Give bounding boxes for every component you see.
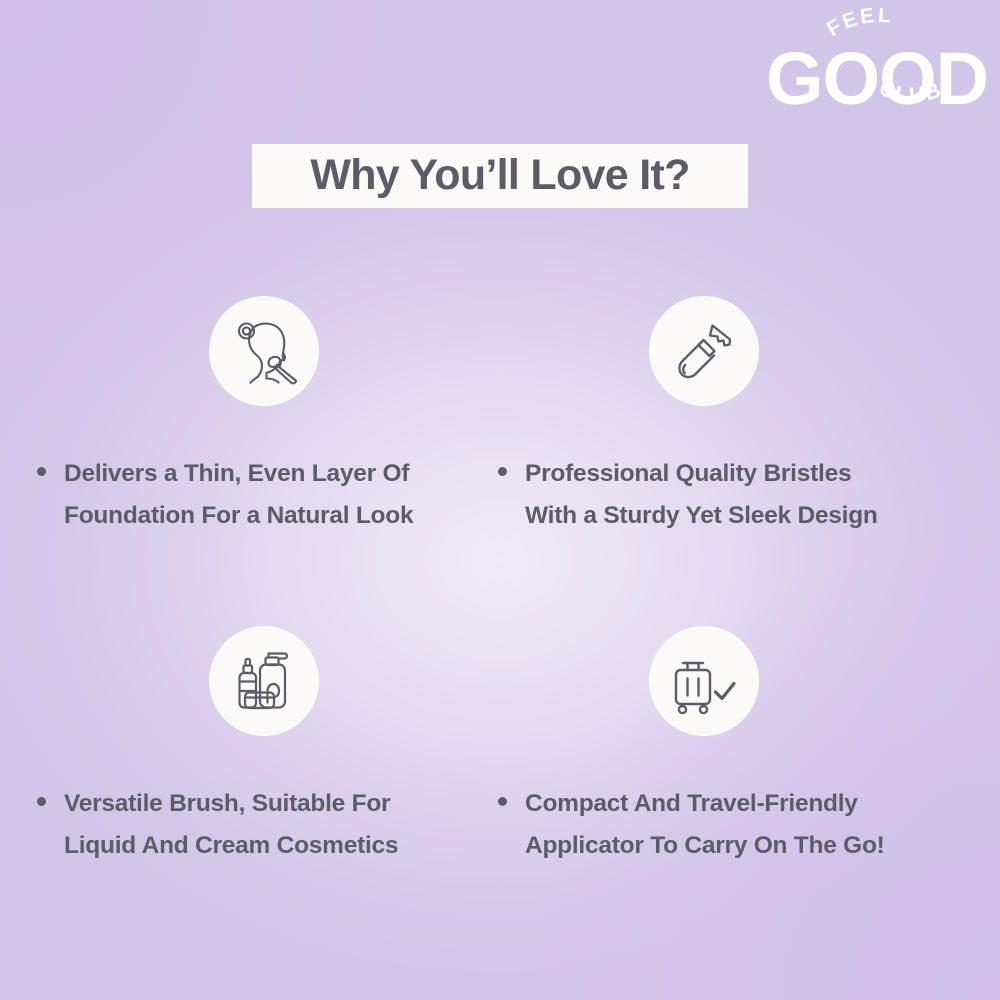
icon-circle-3 [209,626,319,736]
feature-text-row-1: Delivers a Thin, Even Layer Of Foundatio… [20,453,490,537]
bullet-point-icon [498,797,507,806]
feature-label-3: Versatile Brush, Suitable For Liquid And… [64,783,398,867]
icon-circle-4 [649,626,759,736]
feature-item-4: Compact And Travel-Friendly Applicator T… [490,626,970,867]
feature-item-2: Professional Quality Bristles With a Stu… [490,296,970,537]
feature-item-3: Versatile Brush, Suitable For Liquid And… [20,626,490,867]
page-title: Why You’ll Love It? [310,154,689,197]
feature-label-4: Compact And Travel-Friendly Applicator T… [525,783,885,867]
woman-applying-makeup-icon [227,314,301,388]
brand-logo: FEEL GOOD CLUB [758,8,994,136]
feature-text-row-4: Compact And Travel-Friendly Applicator T… [490,783,970,867]
bullet-point-icon [37,467,46,476]
feature-label-2: Professional Quality Bristles With a Stu… [525,453,878,537]
feature-label-1: Delivers a Thin, Even Layer Of Foundatio… [64,453,413,537]
makeup-brush-icon [668,315,740,387]
bullet-point-icon [498,467,507,476]
bullet-point-icon [37,797,46,806]
feature-item-1: Delivers a Thin, Even Layer Of Foundatio… [20,296,490,537]
suitcase-check-icon [669,646,739,716]
icon-circle-1 [209,296,319,406]
logo-good-text: GOOD [766,37,988,120]
icon-circle-2 [649,296,759,406]
feature-text-row-2: Professional Quality Bristles With a Stu… [490,453,970,537]
feature-text-row-3: Versatile Brush, Suitable For Liquid And… [20,783,490,867]
cosmetic-bottles-icon [229,646,299,716]
title-banner: Why You’ll Love It? [252,144,748,208]
